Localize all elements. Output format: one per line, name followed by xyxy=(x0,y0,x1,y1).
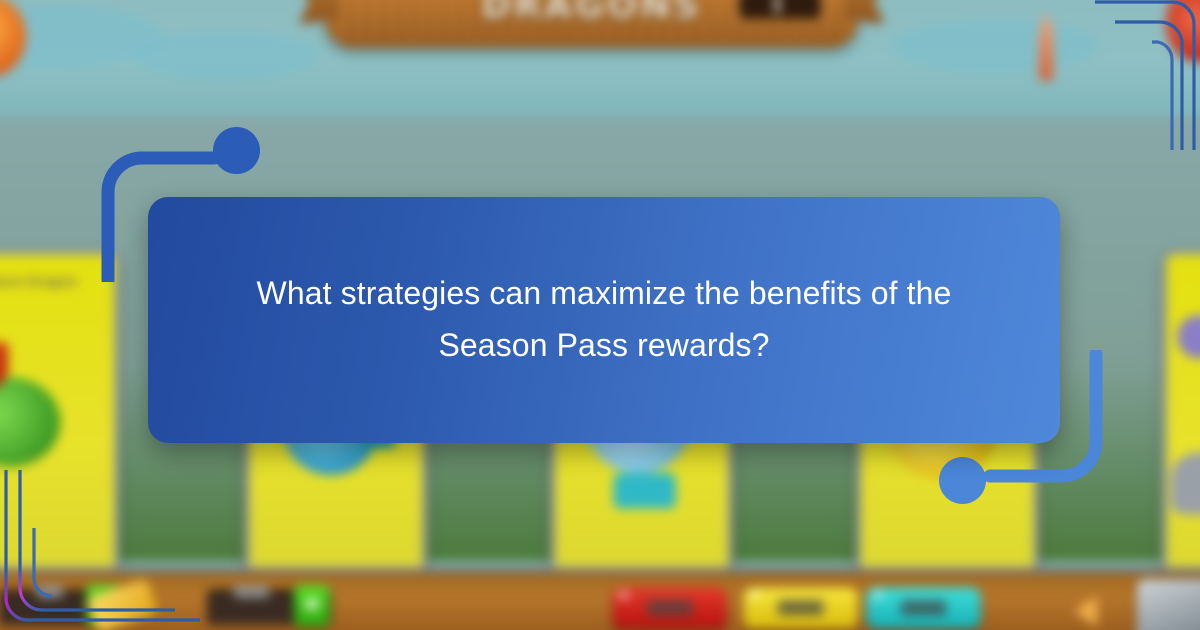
dragon-card-name: Nature Dragon xyxy=(0,273,114,289)
question-card: What strategies can maximize the benefit… xyxy=(148,197,1060,443)
dragon-accent xyxy=(614,473,676,508)
background-cone-shape xyxy=(1039,17,1054,81)
shop-button[interactable] xyxy=(612,587,726,629)
dragon-card-art xyxy=(0,255,114,567)
dragon-sprite xyxy=(0,377,60,466)
quests-button[interactable] xyxy=(744,587,858,629)
social-button[interactable] xyxy=(866,587,980,629)
currency-value-gold xyxy=(234,585,269,597)
cloud-shape xyxy=(891,19,1099,73)
dragons-banner: DRAGONS xyxy=(325,0,857,48)
dragon-sprite xyxy=(1171,452,1200,514)
banner-counter-box[interactable] xyxy=(739,0,820,19)
accent-dot-top-left xyxy=(213,127,260,174)
social-button-label xyxy=(901,600,947,616)
button-highlight xyxy=(619,592,629,599)
game-hud-bar xyxy=(0,568,1200,630)
player-avatar[interactable] xyxy=(1137,579,1200,630)
add-gold-button[interactable] xyxy=(294,585,329,627)
question-text: What strategies can maximize the benefit… xyxy=(204,268,1004,372)
dragon-orb xyxy=(1177,315,1200,359)
dragon-card-art xyxy=(1167,255,1200,567)
accent-dot-bottom-right xyxy=(939,457,986,504)
shop-button-label xyxy=(647,600,693,616)
currency-value-gems xyxy=(36,585,63,597)
screenshot-canvas: DRAGONS Nature Dragon xyxy=(0,0,1200,630)
dragon-card-name: Fire Dragon xyxy=(1167,273,1200,289)
cloud-shape xyxy=(132,31,319,79)
button-highlight xyxy=(872,592,882,599)
quests-button-label xyxy=(778,600,824,616)
button-highlight xyxy=(750,592,760,599)
collapse-arrow-icon[interactable] xyxy=(1074,596,1097,627)
